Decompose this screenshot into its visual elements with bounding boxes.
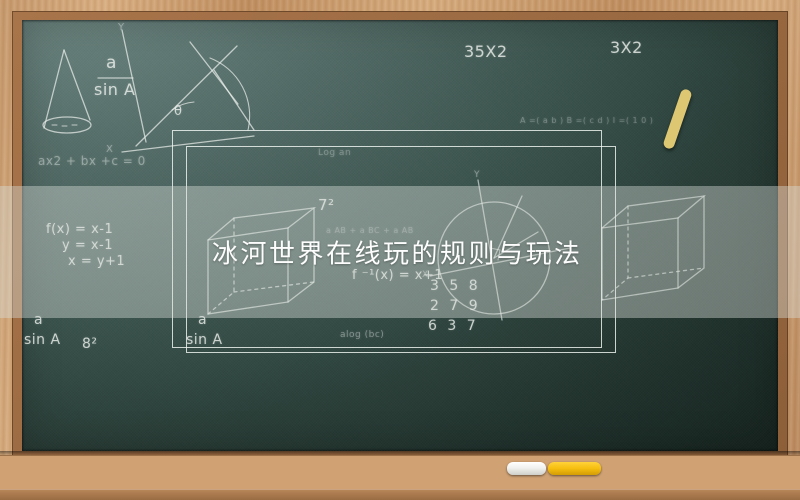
white-chalk-stick xyxy=(507,462,546,475)
eight-squared-label: 8² xyxy=(82,336,98,352)
fraction-numerator-a-top: a xyxy=(106,53,117,73)
banner-image: a sin A ax2 + bx +c = 0 Y X θ f(x) = x-1… xyxy=(0,0,800,500)
yellow-chalk-stick-ledge xyxy=(548,462,601,475)
matrix-notation-row: A =( a b ) B =( c d ) I =( 1 0 ) xyxy=(520,116,653,125)
axis-y-label-top: Y xyxy=(118,22,125,33)
ledge-lip xyxy=(0,489,800,500)
fraction-denominator-sina-top: sin A xyxy=(94,80,135,99)
fraction-denominator-sina-left: sin A xyxy=(24,332,61,348)
chalk-ledge xyxy=(0,455,800,500)
page-title: 冰河世界在线玩的规则与玩法 xyxy=(212,234,583,271)
label-35x2: 35X2 xyxy=(464,42,508,61)
axis-x-label-top: X xyxy=(106,144,113,155)
label-3x2: 3X2 xyxy=(610,38,643,57)
cone-drawing xyxy=(43,50,91,133)
title-band: 冰河世界在线玩的规则与玩法 xyxy=(0,186,800,318)
angle-theta-label: θ xyxy=(174,104,182,119)
quadratic-equation: ax2 + bx +c = 0 xyxy=(38,154,146,168)
